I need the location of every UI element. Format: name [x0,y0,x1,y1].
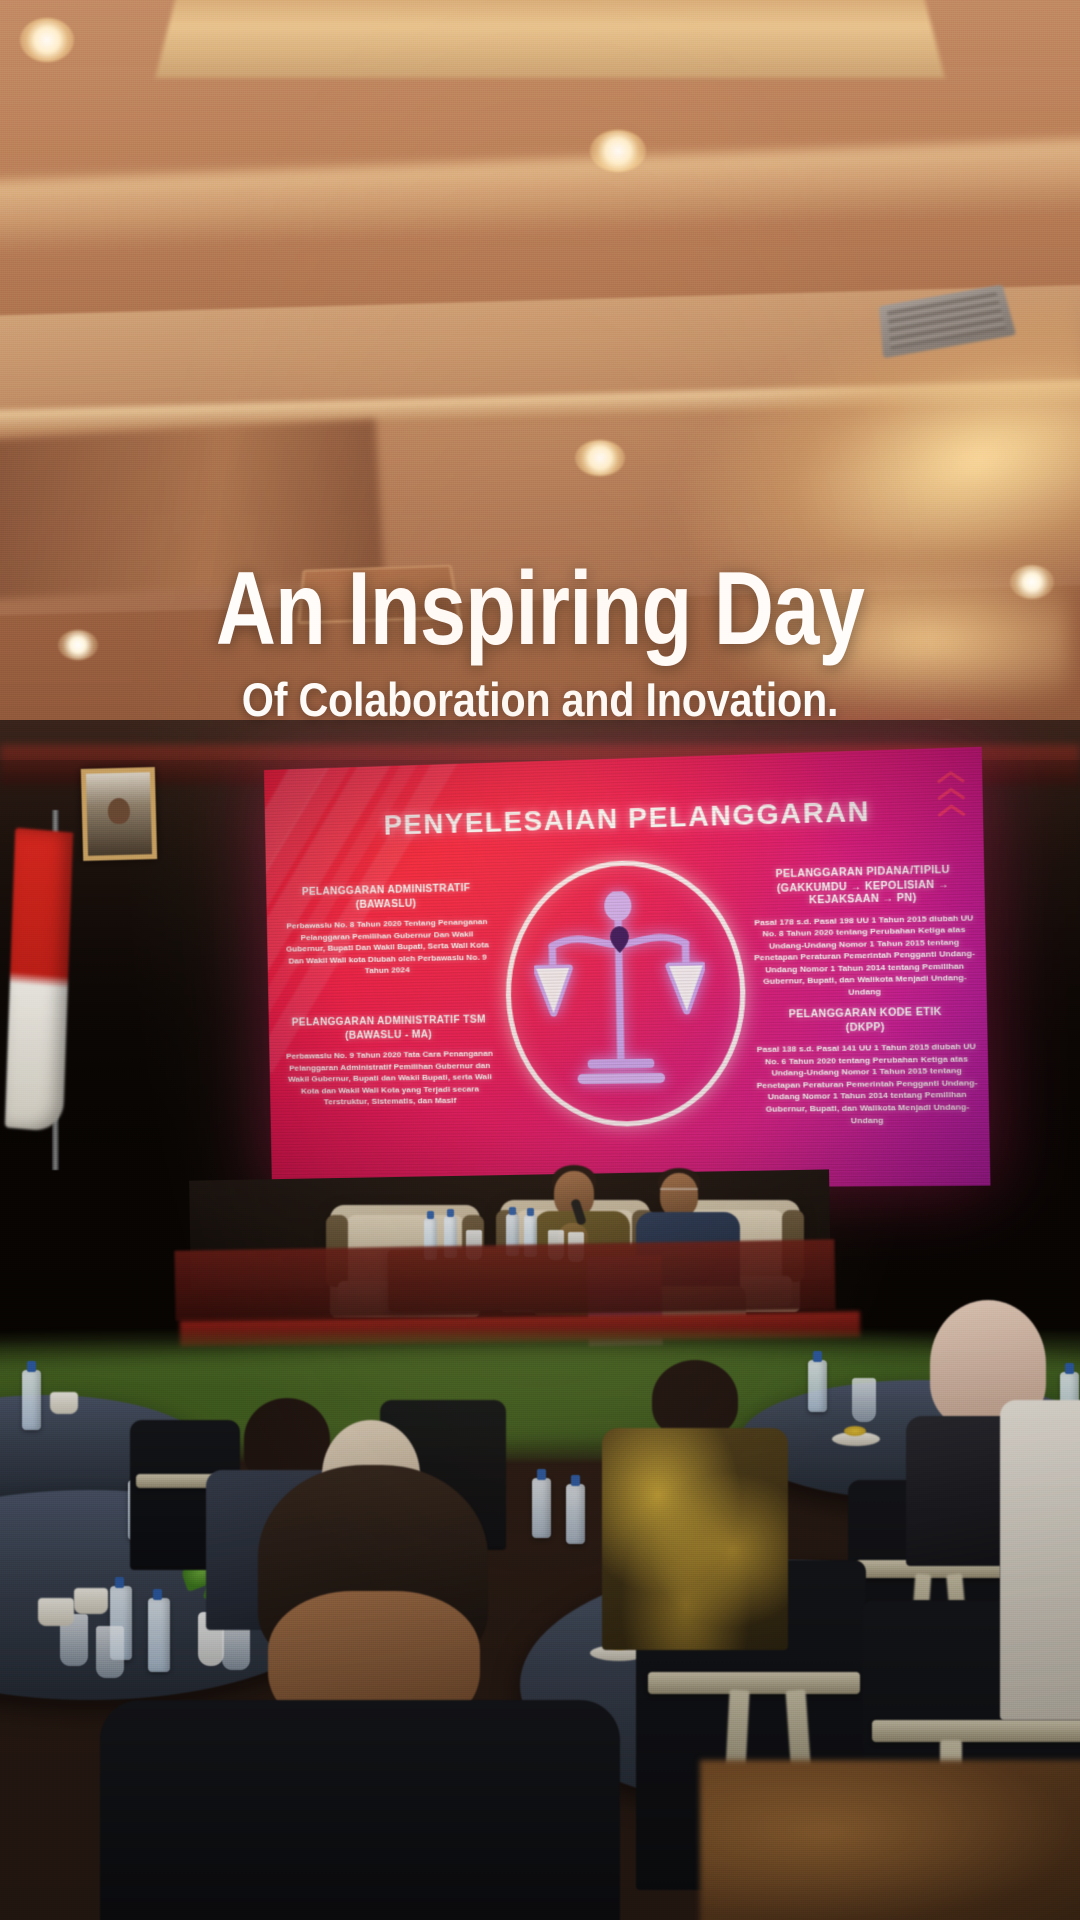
ceiling [0,0,1080,780]
ceiling-vent-left [297,565,461,625]
audience-member-batik [600,1360,790,1650]
chair-sash [872,1720,1080,1742]
framed-portrait [81,767,157,861]
water-bottle [22,1370,41,1430]
banquet-chair-foreground [100,1700,620,1920]
led-presentation-screen: PENYELESAIAN PELANGGARAN PELANGGARAN ADM… [264,747,990,1190]
downlight-4 [1010,565,1054,599]
coffee-cup [74,1588,108,1614]
water-bottle [808,1360,827,1412]
coffee-cup [50,1392,78,1414]
coffee-cup [38,1598,74,1626]
downlight-1 [20,18,74,62]
photo-canvas: PENYELESAIAN PELANGGARAN PELANGGARAN ADM… [0,0,1080,1920]
slide-vignette [264,747,990,1190]
downlight-3 [575,440,625,476]
drinking-glass [852,1378,876,1422]
downlight-2 [590,130,646,172]
ceiling-coffer-strip [155,0,945,78]
person-torso [1000,1400,1080,1720]
downlight-5 [58,630,98,660]
eyeglasses-icon [660,1188,698,1197]
fruit-garnish [844,1426,866,1436]
ballroom-carpet [700,1760,1080,1920]
person-batik-shirt [602,1428,788,1650]
person-hair [652,1360,738,1438]
indonesian-flag-icon [5,828,73,1133]
audience-member-white-right [1000,1400,1080,1720]
ceiling-light-band [0,137,1080,253]
portrait-head [108,797,131,824]
chair-sash [648,1672,860,1694]
drinking-glass [96,1626,124,1678]
stage-skirting [174,1239,835,1321]
slide-surface: PENYELESAIAN PELANGGARAN PELANGGARAN ADM… [264,747,990,1190]
